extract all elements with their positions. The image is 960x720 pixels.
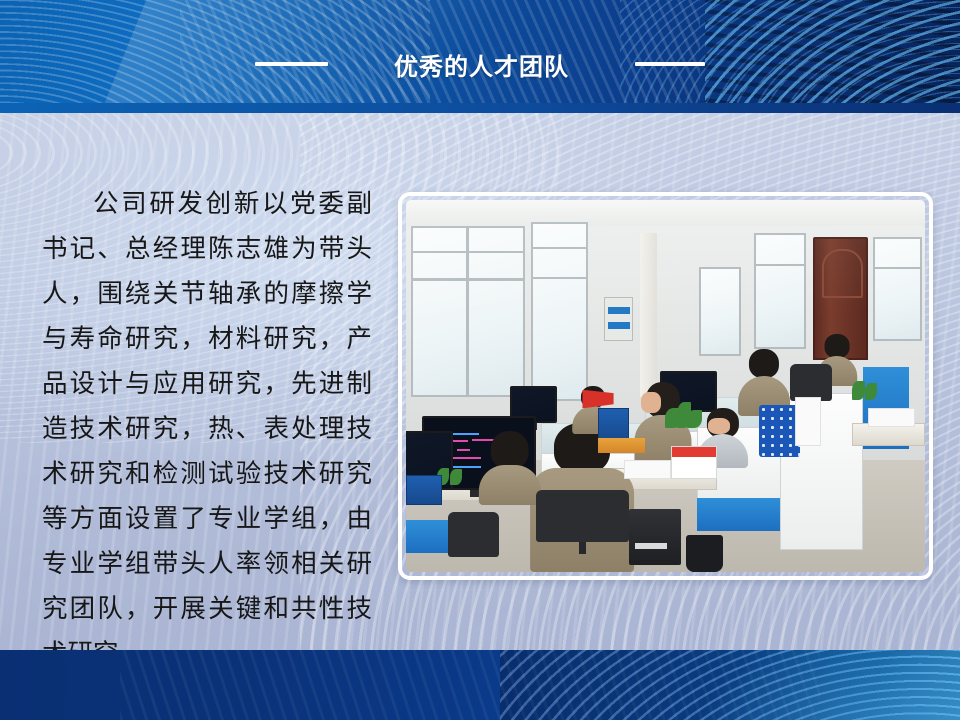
photo-chair-center [536,490,629,542]
photo-waste-bin [686,535,722,572]
photo-desk-calendar [671,446,718,479]
photo-frame [398,192,933,580]
photo-chair-left [448,512,500,557]
footer-glow [690,650,960,720]
photo-paper-stack-right [868,408,915,427]
photo-plant-right [847,375,883,405]
photo-window-mid [699,267,741,356]
photo-chair-right [790,364,832,401]
photo-paper-stack-desk [624,460,671,479]
photo-ceiling [406,200,925,226]
photo-window-far-right [873,237,922,341]
header-bottom-edge [0,103,960,113]
photo-binder-stack-left [406,475,442,505]
photo-pc-tower [629,509,681,565]
photo-file-rack [759,405,801,457]
photo-paper-stack-rack [795,397,821,445]
body-paragraph: 公司研发创新以党委副书记、总经理陈志雄为带头人，围绕关节轴承的摩擦学与寿命研究，… [42,182,372,677]
title-rule-right-icon [635,62,705,66]
page-title: 优秀的人才团队 [394,47,569,82]
photo-window-right [754,233,806,348]
photo-binder-back [598,408,629,441]
office-photo [406,200,925,572]
photo-wall-column [640,233,658,397]
photo-window-left-2 [531,222,588,401]
presentation-slide: 优秀的人才团队 公司研发创新以党委副书记、总经理陈志雄为带头人，围绕关节轴承的摩… [0,0,960,720]
slide-footer-band [0,650,960,720]
slide-title-row: 优秀的人才团队 [0,46,960,82]
photo-books [598,438,645,453]
photo-plant [660,397,707,434]
photo-cabinet-blue-left [406,520,448,553]
photo-person-glasses-left [479,431,541,505]
photo-window-left [411,226,525,397]
photo-wall-panel [604,297,633,342]
title-rule-left-icon [255,62,328,66]
